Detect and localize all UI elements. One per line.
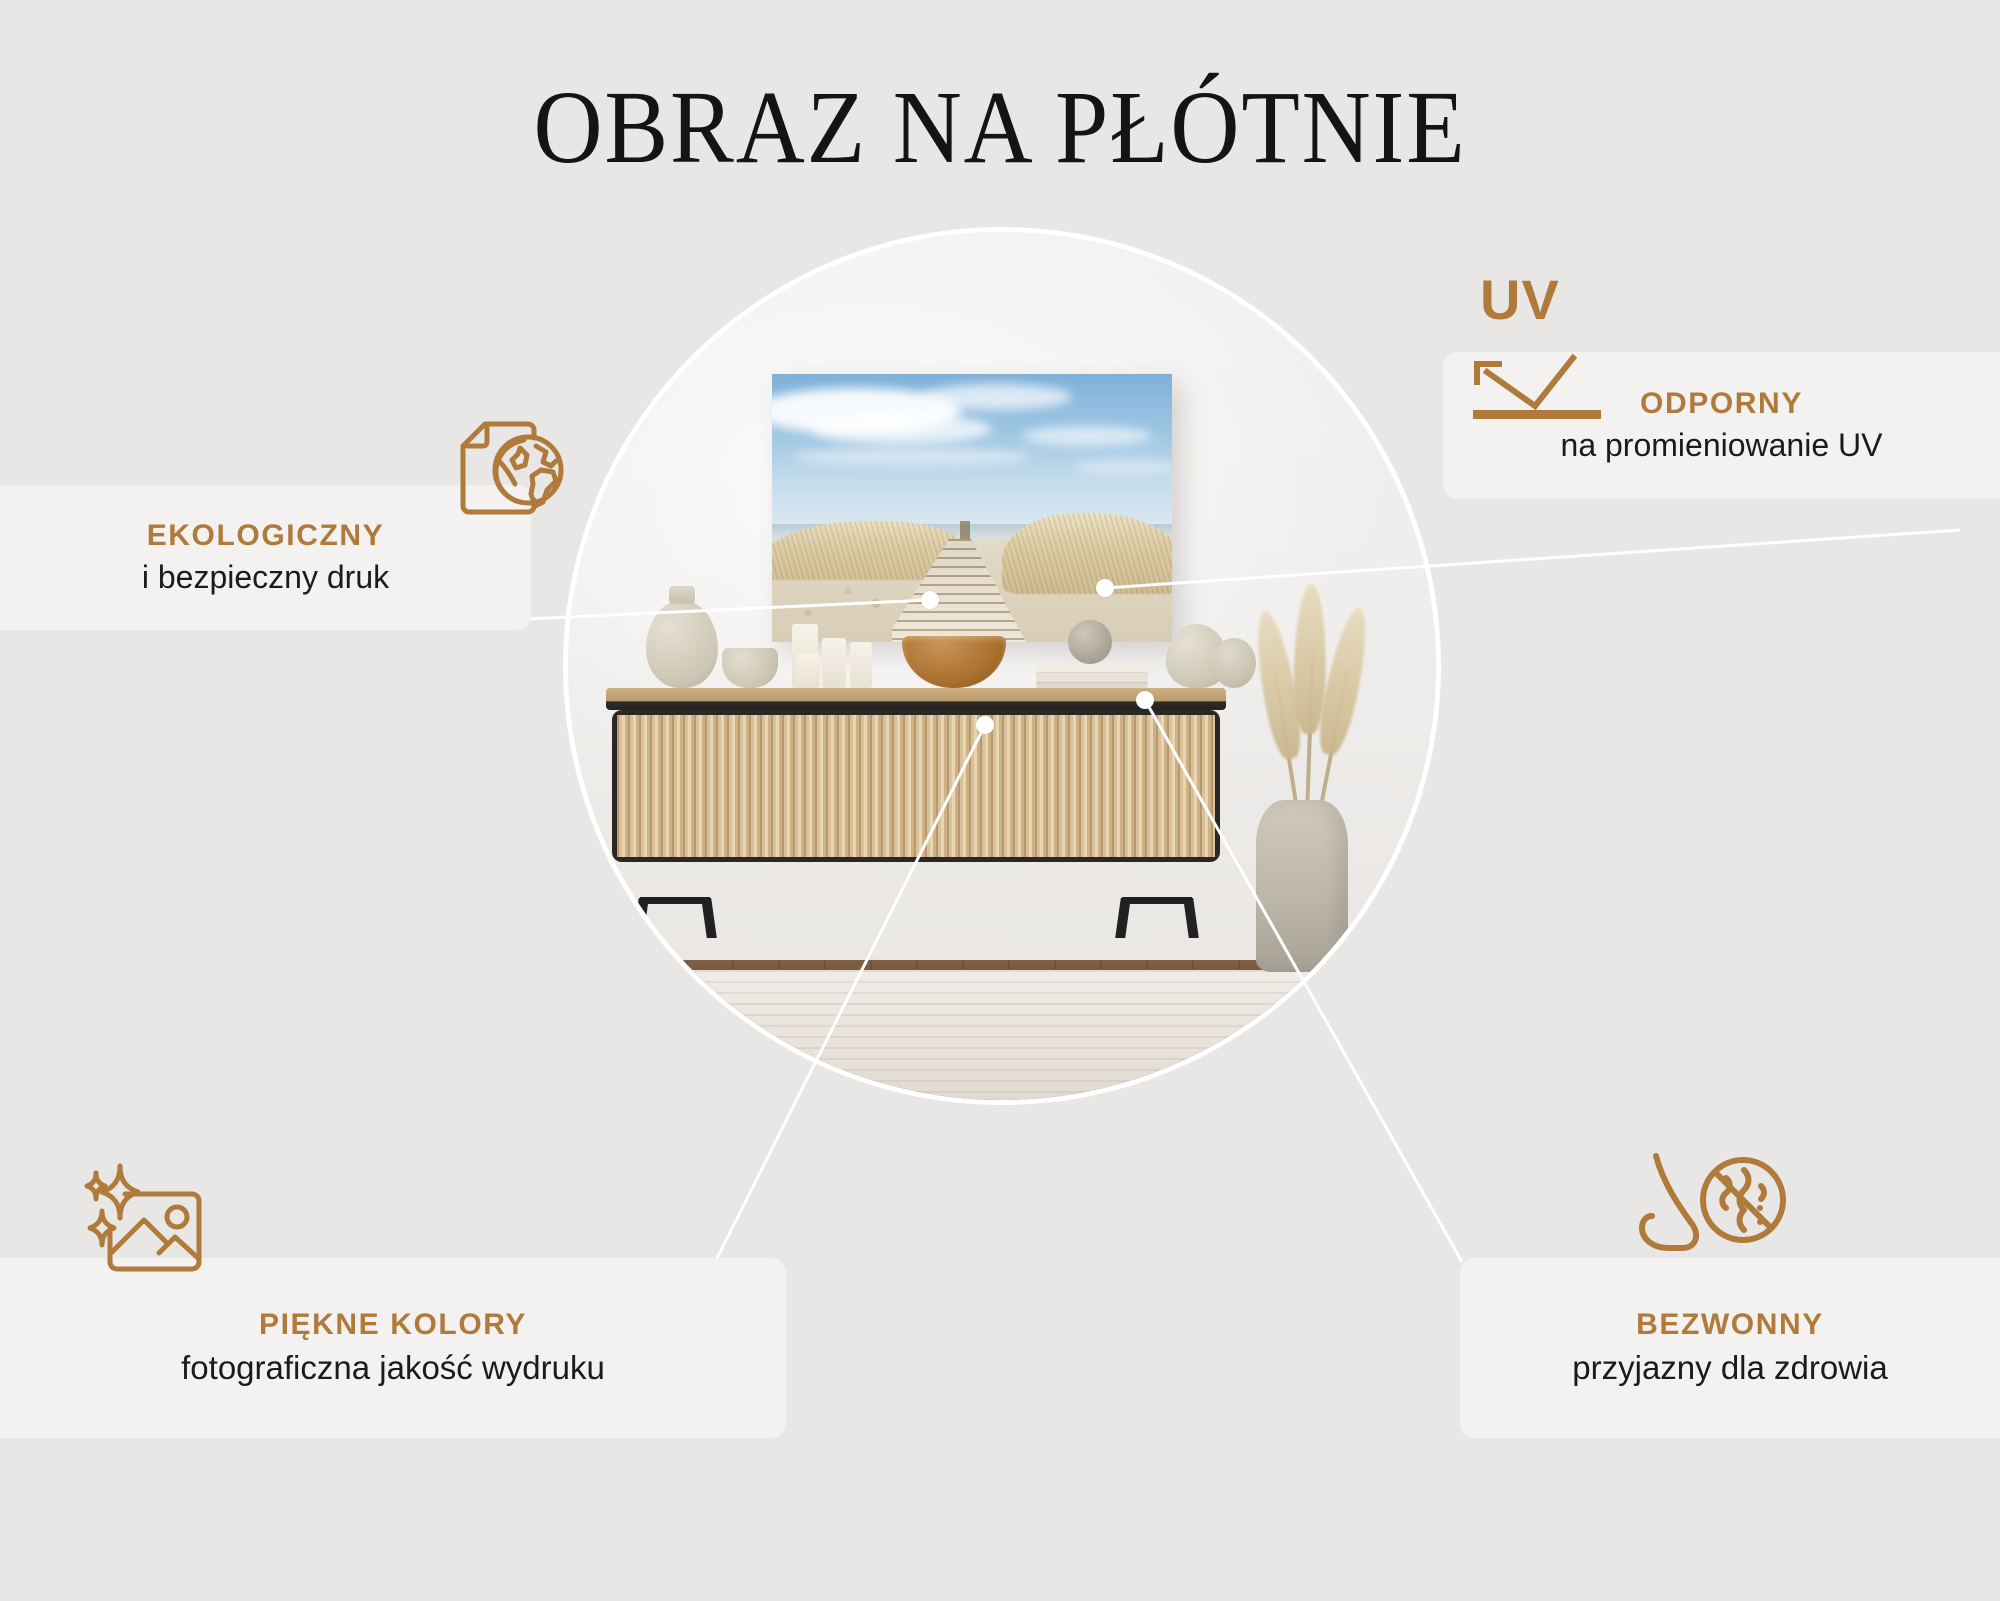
- leg-bar: [1122, 897, 1192, 904]
- uv-badge-label: UV: [1480, 272, 1560, 328]
- area-rug: [568, 970, 1358, 1100]
- leg: [701, 898, 717, 938]
- stone-sphere: [1068, 620, 1112, 664]
- candle: [796, 654, 820, 688]
- page-title: OBRAZ NA PŁÓTNIE: [80, 76, 1920, 180]
- leg-bar: [640, 897, 710, 904]
- dune-grass-right: [1002, 513, 1172, 593]
- copper-bowl: [902, 636, 1006, 688]
- eco-document-globe-leaf-icon: [432, 402, 580, 530]
- connector-dot-eco: [921, 591, 939, 609]
- sideboard-top: [606, 688, 1226, 710]
- feature-subtext-colors: fotograficzna jakość wydruku: [181, 1348, 605, 1388]
- feature-subtext-odor: przyjazny dla zdrowia: [1572, 1348, 1887, 1388]
- cloud: [1022, 426, 1152, 446]
- feature-heading-colors: PIĘKNE KOLORY: [259, 1308, 527, 1342]
- fluted-panel: [617, 715, 1215, 857]
- sideboard-body: [612, 710, 1220, 862]
- ceramic-bowl-small: [722, 648, 778, 688]
- cloud: [922, 384, 1072, 410]
- cloud: [792, 448, 1032, 466]
- connector-dot-odor: [1136, 691, 1154, 709]
- leg: [633, 898, 649, 938]
- nose-no-smell-icon: [1630, 1146, 1796, 1280]
- uv-ray-reflection-icon: [1455, 348, 1625, 440]
- sideboard-legs: [636, 898, 1196, 938]
- sideboard-decor: [606, 592, 1226, 688]
- ceramic-vase-pair-b: [1212, 638, 1256, 688]
- cloud: [1072, 460, 1172, 474]
- feature-subtext-eco: i bezpieczny druk: [142, 558, 389, 596]
- floor-vase: [1256, 800, 1348, 972]
- feature-heading-eco: EKOLOGICZNY: [147, 519, 385, 553]
- rug-texture: [568, 970, 1358, 1100]
- candle: [850, 642, 872, 688]
- feature-heading-uv: ODPORNY: [1640, 387, 1803, 421]
- cloud: [812, 414, 992, 444]
- room-scene-circle: [568, 232, 1436, 1100]
- sideboard: [606, 688, 1226, 900]
- leg: [1115, 898, 1131, 938]
- candle: [822, 638, 846, 688]
- infographic-canvas: OBRAZ NA PŁÓTNIE: [0, 0, 2000, 1601]
- connector-dot-uv: [1096, 579, 1114, 597]
- feature-card-odor[interactable]: BEZWONNY przyjazny dla zdrowia: [1460, 1258, 2000, 1438]
- feature-heading-odor: BEZWONNY: [1636, 1308, 1824, 1342]
- connector-dot-colors: [976, 716, 994, 734]
- room-interior: [568, 232, 1436, 1100]
- picture-sparkle-icon: [80, 1158, 220, 1286]
- ceramic-vase-large: [646, 600, 718, 688]
- stacked-books: [1036, 664, 1148, 688]
